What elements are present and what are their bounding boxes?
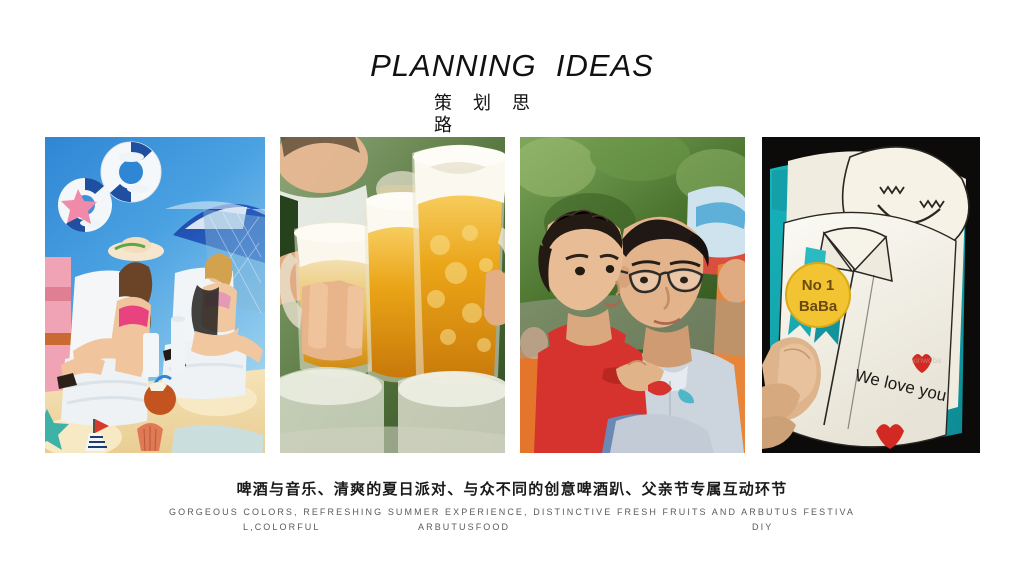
father-and-son-photo [520,137,745,453]
caption-english-line-1: GORGEOUS COLORS, REFRESHING SUMMER EXPER… [0,505,1024,520]
caption-english-segment-arbutusfood: ARBUTUSFOOD [418,520,510,535]
beach-party-photo [45,137,265,453]
card-watermark: xinwoba [912,356,942,365]
page-title: PLANNING IDEAS [0,48,1024,84]
badge-line-1: No 1 [802,277,835,294]
beer-cheers-photo [280,137,505,453]
page-subtitle-chinese: 策 划 思 路 [434,92,566,136]
caption-english-segment-diy: DIY [752,520,773,535]
badge-line-2: BaBa [799,298,838,315]
caption-chinese: 啤酒与音乐、清爽的夏日派对、与众不同的创意啤酒趴、父亲节专属互动环节 [0,478,1024,499]
fathers-day-card-photo: No 1 BaBa We love you xinwoba [762,137,980,453]
photo-gallery: No 1 BaBa We love you xinwoba [45,137,980,453]
caption-english-segment-colorful: L,COLORFUL [243,520,321,535]
